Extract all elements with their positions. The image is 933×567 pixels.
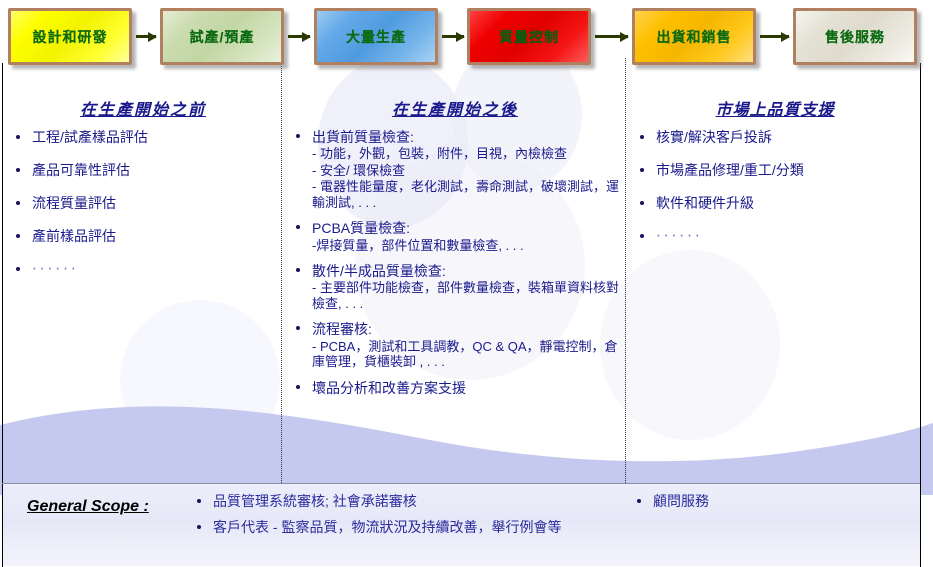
flow-arrow-icon <box>442 35 464 38</box>
column-title: 在生產開始之前 <box>10 96 276 120</box>
list-item: 核實/解決客戶投訴 <box>634 129 916 145</box>
list-item-label: 客戶代表 - 監察品質，物流狀況及持續改善，舉行例會等 <box>213 519 561 535</box>
list-item-label: 品質管理系統審核; 社會承諾審核 <box>213 493 417 509</box>
column-title: 市場上品質支援 <box>634 96 916 120</box>
list-item-label: 流程審核: <box>312 321 620 337</box>
flow-step-shipping-and-sales[interactable]: 出貨和銷售 <box>632 8 756 65</box>
process-flow: 設計和研發 試產/預產 大量生產 質量控制 出貨和銷售 售後服務 <box>0 0 933 80</box>
list-item-sub: - PCBA，測試和工具調教，QC & QA，靜電控制，倉庫管理，貨櫃裝卸 , … <box>312 339 620 370</box>
list-item-label: 軟件和硬件升級 <box>656 195 916 211</box>
flow-step-design-and-rd[interactable]: 設計和研發 <box>8 8 132 65</box>
general-scope-right-list: 顧問服務 <box>633 494 903 520</box>
list-item-label: 散件/半成品質量檢查: <box>312 263 620 279</box>
list-item: 品質管理系統審核; 社會承諾審核 <box>193 494 623 509</box>
watermark-circle <box>120 300 280 460</box>
flow-step-label: 大量生產 <box>346 30 406 44</box>
list-item-sub: - 主要部件功能檢查，部件數量檢查，裝箱單資料核對檢查, . . . <box>312 280 620 311</box>
list-item-sub: -焊接質量，部件位置和數量檢查, . . . <box>312 238 620 254</box>
list-item-label: ‧‧‧‧‧‧ <box>32 261 276 278</box>
list-item: 出貨前質量檢查: - 功能，外觀，包裝，附件，目視，內檢檢查 - 安全/ 環保檢… <box>290 129 620 210</box>
flow-step-label: 試產/預產 <box>190 30 255 44</box>
list-item-label: 產品可靠性評估 <box>32 162 276 178</box>
list-item-label: 工程/試產樣品評估 <box>32 129 276 145</box>
list-item-label: 市場產品修理/重工/分類 <box>656 162 916 178</box>
list-item-label: 出貨前質量檢查: <box>312 129 620 145</box>
flow-arrow-icon <box>760 35 789 38</box>
list-item: 流程質量評估 <box>10 195 276 211</box>
column-bullet-list: 核實/解決客戶投訴 市場產品修理/重工/分類 軟件和硬件升級 ‧‧‧‧‧‧ <box>634 129 916 246</box>
general-scope-left-list: 品質管理系統審核; 社會承諾審核 客戶代表 - 監察品質，物流狀況及持續改善，舉… <box>193 494 623 547</box>
list-item-label: ‧‧‧‧‧‧ <box>656 228 916 245</box>
general-scope-panel: General Scope : 品質管理系統審核; 社會承諾審核 客戶代表 - … <box>3 484 920 566</box>
column-bullet-list: 工程/試產樣品評估 產品可靠性評估 流程質量評估 產前樣品評估 ‧‧‧‧‧‧ <box>10 129 276 279</box>
list-item: 流程審核: - PCBA，測試和工具調教，QC & QA，靜電控制，倉庫管理，貨… <box>290 321 620 369</box>
flow-step-label: 設計和研發 <box>33 30 108 44</box>
list-item: PCBA質量檢查: -焊接質量，部件位置和數量檢查, . . . <box>290 220 620 253</box>
flow-arrow-icon <box>288 35 310 38</box>
column-after-production: 在生產開始之後 出貨前質量檢查: - 功能，外觀，包裝，附件，目視，內檢檢查 -… <box>290 96 620 406</box>
column-title: 在生產開始之後 <box>290 96 620 120</box>
flow-step-label: 質量控制 <box>499 30 559 44</box>
list-item-sub: - 電器性能量度，老化測試，壽命測試，破壞測試，運輸測試, . . . <box>312 179 620 210</box>
flow-step-quality-control[interactable]: 質量控制 <box>467 8 591 65</box>
list-item-label: 流程質量評估 <box>32 195 276 211</box>
column-divider-1 <box>281 58 282 483</box>
watermark-circle <box>600 250 780 440</box>
flow-arrow-icon <box>595 35 628 38</box>
slide-canvas: 設計和研發 試產/預產 大量生產 質量控制 出貨和銷售 售後服務 在生產開始之前… <box>0 0 933 567</box>
list-item: 產品可靠性評估 <box>10 162 276 178</box>
list-item: 顧問服務 <box>633 494 903 509</box>
frame-right-border <box>920 63 921 567</box>
flow-step-after-sales-service[interactable]: 售後服務 <box>793 8 917 65</box>
list-item: 工程/試產樣品評估 <box>10 129 276 145</box>
list-item-ellipsis: ‧‧‧‧‧‧ <box>10 261 276 278</box>
flow-step-trial-production[interactable]: 試產/預產 <box>160 8 284 65</box>
flow-step-label: 出貨和銷售 <box>657 30 732 44</box>
column-market-support: 市場上品質支援 核實/解決客戶投訴 市場產品修理/重工/分類 軟件和硬件升級 ‧… <box>634 96 916 263</box>
column-before-production: 在生產開始之前 工程/試產樣品評估 產品可靠性評估 流程質量評估 產前樣品評估 … <box>10 96 276 296</box>
list-item: 壞品分析和改善方案支援 <box>290 380 620 396</box>
list-item: 市場產品修理/重工/分類 <box>634 162 916 178</box>
list-item-ellipsis: ‧‧‧‧‧‧ <box>634 228 916 245</box>
flow-step-mass-production[interactable]: 大量生產 <box>314 8 438 65</box>
list-item: 軟件和硬件升級 <box>634 195 916 211</box>
list-item-label: 顧問服務 <box>653 493 709 509</box>
list-item-label: PCBA質量檢查: <box>312 220 620 236</box>
wave-decoration <box>0 395 933 495</box>
list-item-sub: - 安全/ 環保檢查 <box>312 163 620 179</box>
list-item-sub: - 功能，外觀，包裝，附件，目視，內檢檢查 <box>312 146 620 162</box>
list-item: 產前樣品評估 <box>10 228 276 244</box>
list-item: 散件/半成品質量檢查: - 主要部件功能檢查，部件數量檢查，裝箱單資料核對檢查,… <box>290 263 620 311</box>
list-item-label: 產前樣品評估 <box>32 228 276 244</box>
flow-step-label: 售後服務 <box>825 30 885 44</box>
general-scope-label: General Scope : <box>27 498 149 516</box>
list-item-label: 壞品分析和改善方案支援 <box>312 380 620 396</box>
list-item-label: 核實/解決客戶投訴 <box>656 129 916 145</box>
list-item: 客戶代表 - 監察品質，物流狀況及持續改善，舉行例會等 <box>193 520 623 535</box>
column-divider-2 <box>625 58 626 483</box>
flow-arrow-icon <box>136 35 156 38</box>
column-bullet-list: 出貨前質量檢查: - 功能，外觀，包裝，附件，目視，內檢檢查 - 安全/ 環保檢… <box>290 129 620 396</box>
